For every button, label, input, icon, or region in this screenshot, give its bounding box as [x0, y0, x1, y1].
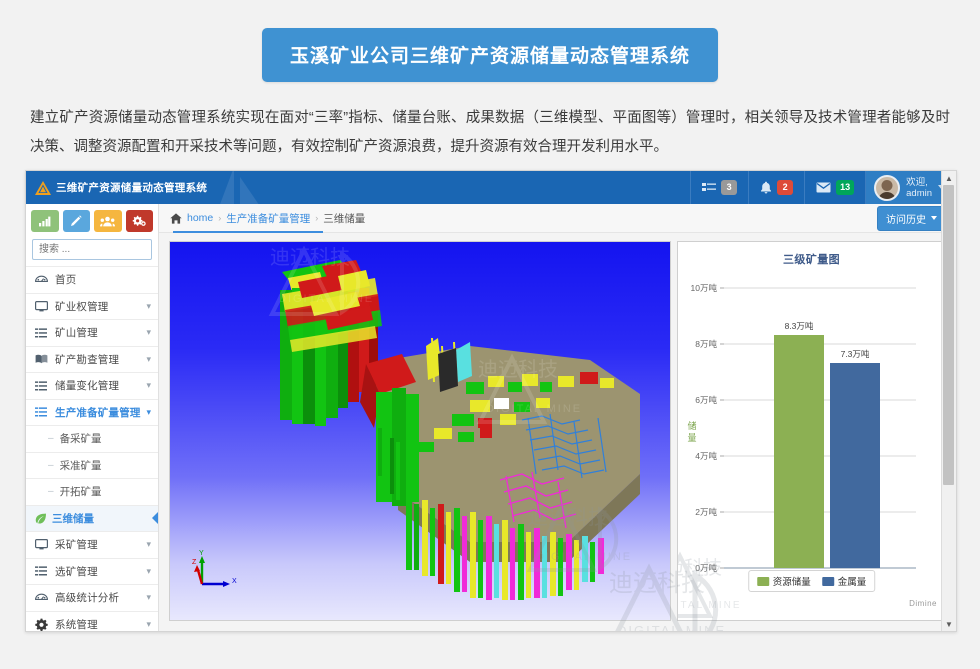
svg-text:X: X [232, 578, 237, 585]
sidebar-item-label: 矿山管理 [50, 325, 146, 340]
app-header: 三维矿产资源储量动态管理系统 3 [26, 171, 956, 204]
sidebar-item-mine-mgmt[interactable]: 矿山管理 ▾ [26, 320, 158, 347]
page-description: 建立矿产资源储量动态管理系统实现在面对“三率”指标、储量台账、成果数据（三维模型… [30, 104, 950, 162]
page-title-container: 玉溪矿业公司三维矿产资源储量动态管理系统 [0, 0, 980, 82]
chevron-down-icon: ▾ [146, 567, 151, 576]
svg-text:Y: Y [199, 550, 204, 557]
monitor-icon [35, 301, 50, 312]
sidebar-subitem-beicai[interactable]: – 备采矿量 [26, 426, 158, 453]
breadcrumb-current: 三维储量 [323, 211, 365, 226]
sidebar-subitem-kaituo[interactable]: – 开拓矿量 [26, 479, 158, 506]
scroll-up-arrow-icon[interactable]: ▲ [942, 171, 956, 185]
messages-badge: 13 [836, 180, 854, 195]
svg-text:10万吨: 10万吨 [691, 283, 718, 293]
dash-icon: – [48, 433, 54, 444]
sidebar-item-label: 高级统计分析 [50, 590, 146, 605]
three-d-model-viewport[interactable]: 迪迈科技 DIGITAL MINE 迪迈科技 DIGITAL MINE [169, 241, 671, 621]
chart-button[interactable] [31, 210, 59, 232]
svg-text:8万吨: 8万吨 [695, 339, 717, 349]
user-name: admin [906, 188, 932, 199]
header-spacer [159, 171, 690, 204]
sidebar-subitem-caizhun[interactable]: – 采准矿量 [26, 453, 158, 480]
bar-resource-reserve [774, 335, 824, 568]
envelope-icon [816, 182, 831, 193]
breadcrumb-underline [173, 231, 323, 233]
scroll-down-arrow-icon[interactable]: ▼ [942, 617, 956, 631]
chevron-down-icon [931, 216, 937, 220]
content-area: home › 生产准备矿量管理 › 三维储量 访问历史 [159, 204, 956, 631]
svg-text:Z: Z [192, 559, 197, 566]
axis-gizmo-icon: Y X Z [192, 550, 244, 594]
bell-icon [760, 181, 772, 194]
sidebar-item-label: 储量变化管理 [50, 378, 146, 393]
sidebar-item-reserve-change[interactable]: 储量变化管理 ▾ [26, 373, 158, 400]
messages-menu[interactable]: 13 [804, 171, 865, 204]
notifications-menu[interactable]: 2 [748, 171, 804, 204]
breadcrumb-separator: › [315, 213, 318, 223]
tasks-icon [702, 182, 716, 194]
chevron-down-icon: ▾ [146, 593, 151, 602]
tasks-badge: 3 [721, 180, 737, 195]
home-icon [170, 213, 182, 224]
list-icon [35, 407, 50, 417]
sidebar-item-label: 采矿管理 [50, 537, 146, 552]
legend-item-resource-reserve[interactable]: 资源储量 [757, 574, 811, 588]
legend-label: 金属量 [838, 574, 867, 588]
notifications-badge: 2 [777, 180, 793, 195]
svg-text:7.3万吨: 7.3万吨 [841, 349, 870, 359]
chart-title: 三级矿量图 [678, 242, 945, 267]
legend-label: 资源储量 [773, 574, 811, 588]
dashboard-icon [35, 275, 50, 285]
sidebar-item-label: 矿业权管理 [50, 299, 146, 314]
tasks-menu[interactable]: 3 [690, 171, 748, 204]
sidebar-item-mining-mgmt[interactable]: 采矿管理 ▾ [26, 532, 158, 559]
dash-icon: – [48, 486, 54, 497]
three-d-model-render [170, 242, 670, 612]
sidebar-item-system-mgmt[interactable]: 系统管理 ▾ [26, 612, 158, 632]
list-icon [35, 328, 50, 338]
dashboard-icon [35, 593, 50, 603]
sidebar-item-production-reserves[interactable]: 生产准备矿量管理 ▾ [26, 400, 158, 427]
sidebar-search [32, 239, 152, 260]
app-brand[interactable]: 三维矿产资源储量动态管理系统 [26, 171, 159, 204]
sidebar-item-advanced-stats[interactable]: 高级统计分析 ▾ [26, 585, 158, 612]
scrollbar-thumb[interactable] [943, 185, 954, 485]
breadcrumb-parent[interactable]: 生产准备矿量管理 [226, 211, 310, 226]
sidebar-menu: 首页 矿业权管理 ▾ [26, 266, 158, 631]
chart-svg: 10万吨 8万吨 6万吨 4万吨 2万吨 0万吨 储 量 [678, 266, 924, 612]
chevron-down-icon: ▾ [146, 355, 151, 364]
user-greeting: 欢迎, [906, 177, 932, 188]
chevron-down-icon: ▾ [146, 540, 151, 549]
reserve-chart-panel: 三级矿量图 [677, 241, 946, 621]
sidebar-subitem-label: 备采矿量 [60, 431, 102, 446]
leaf-icon [35, 513, 47, 524]
breadcrumb-separator: › [218, 213, 221, 223]
sidebar-item-label: 生产准备矿量管理 [50, 405, 146, 420]
visit-history-label: 访问历史 [886, 211, 926, 226]
chevron-down-icon: ▾ [146, 381, 151, 390]
app-brand-text: 三维矿产资源储量动态管理系统 [56, 180, 207, 195]
svg-text:8.3万吨: 8.3万吨 [785, 321, 814, 331]
sidebar-item-label: 选矿管理 [50, 564, 146, 579]
legend-item-metal-content[interactable]: 金属量 [822, 574, 867, 588]
monitor-icon [35, 539, 50, 550]
panels: 迪迈科技 DIGITAL MINE 迪迈科技 DIGITAL MINE [159, 233, 956, 631]
sidebar-subitem-label: 三维储量 [52, 511, 94, 526]
sidebar-subitem-label: 开拓矿量 [60, 484, 102, 499]
vertical-scrollbar[interactable]: ▲ ▼ [941, 171, 956, 631]
header-actions: 3 2 13 [690, 171, 956, 204]
sidebar-item-label: 系统管理 [50, 617, 146, 631]
legend-swatch [822, 577, 834, 586]
sidebar: 首页 矿业权管理 ▾ [26, 204, 159, 631]
breadcrumb-bar: home › 生产准备矿量管理 › 三维储量 访问历史 [159, 204, 956, 233]
application-window: 三维矿产资源储量动态管理系统 3 [25, 170, 957, 632]
sidebar-item-home[interactable]: 首页 [26, 267, 158, 294]
sidebar-item-label: 矿产勘查管理 [50, 352, 146, 367]
list-icon [35, 566, 50, 576]
svg-text:6万吨: 6万吨 [695, 395, 717, 405]
legend-swatch [757, 577, 769, 586]
sidebar-item-label: 首页 [50, 272, 151, 287]
svg-text:储: 储 [687, 420, 696, 431]
app-body: 首页 矿业权管理 ▾ [26, 204, 956, 631]
visit-history-button[interactable]: 访问历史 [877, 206, 946, 231]
breadcrumb-home[interactable]: home [187, 212, 213, 224]
svg-text:0万吨: 0万吨 [695, 563, 717, 573]
chart-annotation: Dimine [909, 599, 937, 608]
avatar [874, 175, 900, 201]
edit-button[interactable] [63, 210, 91, 232]
logo-triangle-icon [35, 181, 51, 195]
sidebar-subitem-label: 采准矿量 [60, 458, 102, 473]
bar-metal-content [830, 363, 880, 568]
chart-plot: 10万吨 8万吨 6万吨 4万吨 2万吨 0万吨 储 量 [678, 266, 945, 620]
chevron-down-icon: ▾ [146, 328, 151, 337]
sidebar-quick-buttons [26, 204, 158, 237]
users-button[interactable] [94, 210, 122, 232]
svg-text:量: 量 [687, 433, 696, 443]
scrollbar-track[interactable] [942, 185, 956, 617]
sidebar-subitem-3d-reserves[interactable]: 三维储量 [26, 506, 158, 533]
svg-text:4万吨: 4万吨 [695, 451, 717, 461]
dash-icon: – [48, 460, 54, 471]
settings-button[interactable] [126, 210, 154, 232]
chevron-down-icon: ▾ [146, 620, 151, 629]
search-input[interactable] [32, 239, 152, 260]
sidebar-item-mining-rights[interactable]: 矿业权管理 ▾ [26, 294, 158, 321]
sidebar-item-exploration[interactable]: 矿产勘查管理 ▾ [26, 347, 158, 374]
page-title: 玉溪矿业公司三维矿产资源储量动态管理系统 [262, 28, 718, 82]
gear-icon [35, 618, 50, 631]
svg-text:2万吨: 2万吨 [695, 507, 717, 517]
chart-legend: 资源储量 金属量 [748, 570, 876, 592]
chevron-down-icon: ▾ [146, 408, 151, 417]
sidebar-item-mineral-processing[interactable]: 选矿管理 ▾ [26, 559, 158, 586]
chevron-down-icon: ▾ [146, 302, 151, 311]
breadcrumb: home › 生产准备矿量管理 › 三维储量 [170, 211, 365, 226]
book-icon [35, 354, 50, 364]
list-icon [35, 381, 50, 391]
